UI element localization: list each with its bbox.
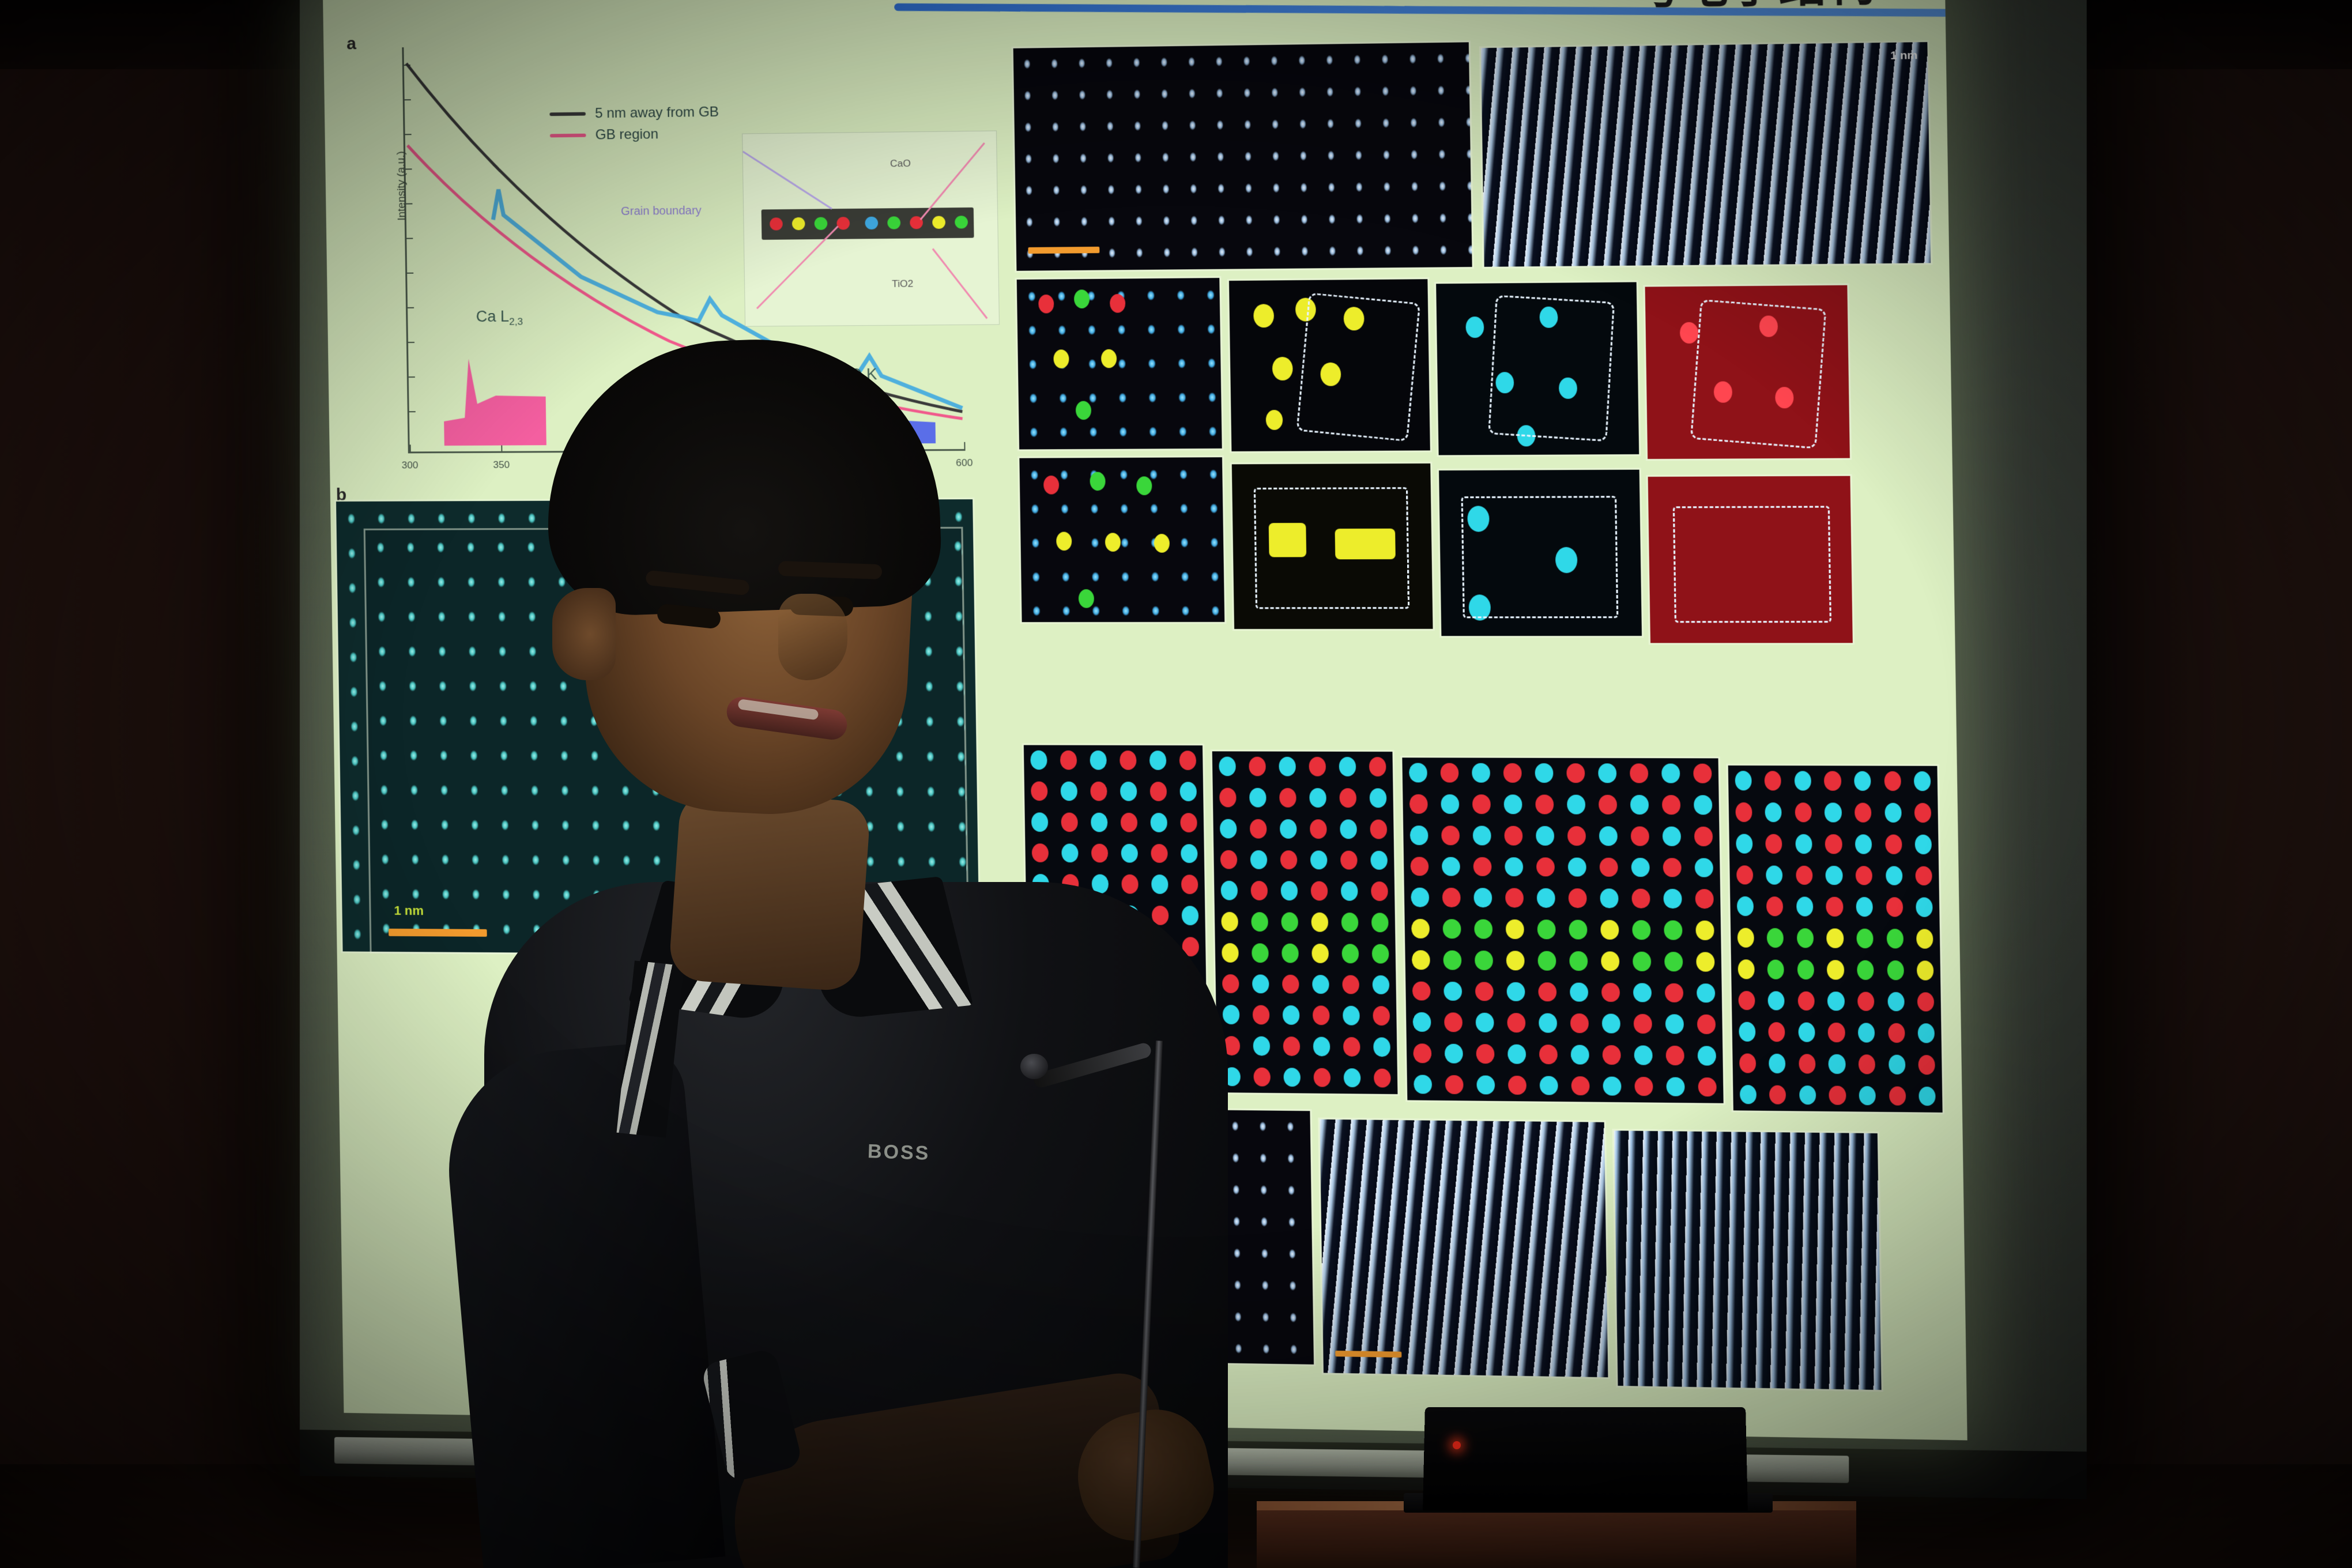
- laptop-lid[interactable]: [1423, 1407, 1748, 1511]
- atomic-column-dot: [1475, 951, 1492, 970]
- atomic-column-dot: [1441, 763, 1458, 783]
- atomic-column-dot: [1799, 1085, 1816, 1105]
- atomic-column-dot: [1477, 1075, 1495, 1095]
- atomic-column-dot: [1697, 1015, 1715, 1034]
- atomic-column-dot: [1473, 826, 1491, 845]
- atomic-column-dot: [1740, 1085, 1757, 1105]
- atomic-column-dot: [1886, 929, 1904, 948]
- atomic-column-dot: [1441, 794, 1459, 814]
- atomic-column-dot: [1633, 920, 1650, 940]
- atomic-column-dot: [1859, 1054, 1876, 1074]
- atomic-column-dot: [1857, 992, 1875, 1011]
- atomic-column-dot: [1571, 1045, 1589, 1065]
- atomic-column-dot: [1369, 757, 1386, 777]
- atomic-column-dot: [1829, 1054, 1846, 1074]
- atomic-column-dot: [1567, 795, 1585, 815]
- atomic-column-dot: [1698, 1077, 1716, 1097]
- atomic-column-dot: [1475, 982, 1493, 1001]
- atomic-column-dot: [1663, 827, 1680, 846]
- atomic-column-dot: [1735, 802, 1752, 822]
- atomic-column-dot: [1736, 834, 1752, 853]
- atomic-column-dot: [1603, 1045, 1620, 1065]
- atomic-column-dot: [1886, 898, 1903, 917]
- tile-scale-label: 1 nm: [1890, 50, 1918, 63]
- atomic-column-dot: [1373, 1006, 1390, 1026]
- atomic-column-dot: [1825, 834, 1842, 854]
- atomic-column-dot: [1570, 1013, 1588, 1033]
- atomic-column-dot: [1569, 888, 1586, 908]
- atomic-column-dot: [1539, 1013, 1557, 1033]
- atomic-column-dot: [1769, 1085, 1786, 1105]
- atomic-column-dot: [1798, 1023, 1815, 1042]
- atomic-column-dot: [1444, 982, 1462, 1001]
- atomic-column-dot: [1537, 919, 1555, 939]
- speaker-presenter: BOSS: [484, 565, 1291, 1568]
- atomic-column-dot: [1694, 764, 1712, 783]
- atomic-column-dot: [1886, 866, 1903, 885]
- atomic-column-dot: [1476, 1013, 1494, 1032]
- mosaic-tile-overlay-1: [1017, 278, 1222, 449]
- atomic-column-dot: [1766, 865, 1782, 885]
- atomic-column-dot: [1567, 764, 1585, 783]
- mosaic-tile-o-map-2: [1648, 476, 1853, 643]
- atomic-column-dot: [1601, 920, 1619, 940]
- atomic-column-dot: [1916, 898, 1933, 917]
- atomic-column-dot: [1472, 794, 1490, 814]
- atomic-column-dot: [1664, 921, 1682, 940]
- atomic-column-dot: [1826, 897, 1844, 917]
- atomic-column-dot: [1372, 944, 1389, 963]
- atomic-column-dot: [1697, 952, 1714, 971]
- left-shoulder: [439, 1039, 726, 1568]
- atomic-column-dot: [1856, 897, 1874, 917]
- atomic-column-dot: [1917, 960, 1934, 980]
- atomic-column-dot: [1536, 826, 1554, 846]
- hair: [542, 333, 943, 617]
- x-tick-1: 350: [493, 459, 510, 471]
- atomic-column-dot: [1341, 944, 1359, 963]
- atomic-column-dot: [1570, 951, 1588, 971]
- atomic-column-dot: [1411, 888, 1429, 907]
- atomic-column-dot: [1694, 795, 1712, 815]
- atomic-column-dot: [1887, 960, 1904, 980]
- atomic-column-dot: [1827, 960, 1844, 979]
- mosaic-tile-o-map: [1645, 285, 1850, 459]
- atomic-column-dot: [1504, 794, 1522, 814]
- atomic-column-dot: [1370, 851, 1388, 870]
- atomic-column-dot: [1536, 857, 1554, 877]
- atomic-column-dot: [1409, 794, 1427, 814]
- x-tick-0: 300: [402, 459, 419, 471]
- atomic-column-dot: [1414, 1043, 1431, 1063]
- atomic-column-dot: [1630, 764, 1648, 783]
- atomic-column-dot: [1630, 795, 1648, 815]
- atomic-column-dot: [1601, 982, 1619, 1002]
- atomic-column-dot: [1412, 950, 1430, 970]
- atomic-column-dot: [1506, 951, 1524, 970]
- atomic-column-dot: [1603, 1076, 1621, 1096]
- atomic-column-dot: [1506, 919, 1524, 939]
- atomic-column-dot: [1314, 1068, 1331, 1087]
- atomic-column-dot: [1665, 952, 1683, 971]
- atomic-column-dot: [1632, 889, 1650, 909]
- stem-map-mosaic: 1 nm: [1013, 36, 1933, 48]
- atomic-column-dot: [1442, 888, 1460, 907]
- atomic-column-dot: [1666, 1046, 1684, 1065]
- atomic-column-dot: [1767, 959, 1784, 979]
- atomic-column-dot: [1535, 763, 1553, 783]
- atomic-column-dot: [1769, 1054, 1785, 1073]
- atomic-tile-3: [1728, 766, 1943, 1113]
- mosaic-tile-hr-stem: [1013, 42, 1472, 270]
- atomic-column-dot: [1795, 834, 1812, 854]
- atomic-column-dot: [1888, 1023, 1905, 1043]
- atomic-tile-2: [1402, 757, 1723, 1103]
- atomic-column-dot: [1340, 850, 1358, 870]
- atomic-column-dot: [1855, 834, 1872, 854]
- atomic-column-dot: [1918, 1023, 1935, 1043]
- atomic-column-dot: [1310, 850, 1328, 870]
- atomic-column-dot: [1409, 763, 1427, 783]
- atomic-column-dot: [1475, 919, 1492, 939]
- inset-caption: Grain boundary: [621, 204, 702, 218]
- atomic-column-dot: [1796, 897, 1813, 917]
- atomic-column-dot: [1916, 929, 1933, 949]
- panel-letter-a: a: [346, 34, 356, 54]
- scale-bar-label: 1 nm: [394, 903, 424, 918]
- atomic-column-dot: [1667, 1077, 1684, 1096]
- atomic-column-dot: [1602, 1014, 1620, 1034]
- atomic-column-dot: [1309, 788, 1326, 808]
- atomic-column-dot: [1858, 1023, 1875, 1043]
- atomic-column-dot: [1313, 1037, 1330, 1057]
- atomic-column-dot: [1311, 913, 1328, 932]
- atomic-column-dot: [1767, 928, 1784, 948]
- atomic-column-dot: [1696, 921, 1714, 940]
- atomic-column-dot: [1413, 1012, 1431, 1032]
- atomic-column-dot: [1410, 826, 1428, 845]
- atomic-column-dot: [1665, 983, 1683, 1002]
- atomic-column-dot: [1474, 888, 1492, 908]
- atomic-column-dot: [1795, 771, 1811, 791]
- atomic-column-dot: [1827, 992, 1845, 1011]
- atomic-column-dot: [1339, 757, 1356, 777]
- atomic-column-dot: [1633, 952, 1651, 971]
- atomic-column-dot: [1344, 1068, 1361, 1088]
- atomic-column-dot: [1695, 889, 1713, 909]
- atomic-column-dot: [1824, 771, 1841, 791]
- mosaic-tile-ca-map: [1229, 279, 1430, 451]
- atomic-column-dot: [1370, 820, 1387, 839]
- atomic-column-dot: [1884, 771, 1901, 791]
- atomic-column-dot: [1855, 803, 1872, 823]
- atomic-column-dot: [1508, 1076, 1526, 1095]
- atomic-column-dot: [1312, 975, 1329, 994]
- atomic-column-dot: [1766, 834, 1782, 854]
- atomic-column-dot: [1414, 1075, 1432, 1094]
- atomic-column-dot: [1442, 826, 1460, 845]
- atomic-column-dot: [1914, 803, 1932, 823]
- atomic-column-dot: [1737, 959, 1754, 979]
- atomic-column-dot: [1411, 857, 1428, 876]
- atomic-column-dot: [1796, 865, 1812, 885]
- atomic-column-dot: [1343, 1006, 1360, 1026]
- atomic-column-dot: [1698, 1046, 1716, 1065]
- scale-bar-icon: [389, 929, 487, 937]
- atomic-column-dot: [1599, 826, 1617, 846]
- atomic-column-dot: [1537, 888, 1555, 908]
- atomic-column-dot: [1571, 1076, 1589, 1096]
- atomic-column-dot: [1739, 1022, 1755, 1042]
- atomic-column-dot: [1539, 982, 1556, 1002]
- atomic-column-dot: [1508, 1045, 1526, 1064]
- atomic-column-dot: [1311, 881, 1328, 901]
- atomic-column-dot: [1885, 834, 1902, 854]
- atomic-column-dot: [1857, 960, 1874, 979]
- atomic-column-dot: [1884, 803, 1902, 823]
- atomic-column-dot: [1918, 1055, 1936, 1075]
- atomic-column-dot: [1826, 866, 1843, 885]
- atomic-column-dot: [1914, 771, 1931, 791]
- atomic-column-dot: [1600, 857, 1618, 877]
- shirt-brand-logo: BOSS: [867, 1140, 930, 1165]
- atomic-column-dot: [1507, 1013, 1525, 1032]
- atomic-column-dot: [1600, 889, 1618, 909]
- atomic-column-dot: [1633, 983, 1651, 1002]
- atomic-column-dot: [1539, 1045, 1557, 1064]
- roi-outline: [1296, 292, 1420, 442]
- atomic-column-dot: [1766, 897, 1783, 917]
- atomic-column-dot: [1634, 1045, 1652, 1065]
- atomic-column-dot: [1599, 764, 1616, 783]
- atomic-column-dot: [1342, 975, 1359, 994]
- atomic-column-dot: [1442, 857, 1460, 876]
- atomic-column-dot: [1854, 771, 1871, 791]
- atomic-column-dot: [1341, 913, 1359, 932]
- atomic-column-dot: [1371, 913, 1389, 932]
- atomic-column-dot: [1737, 928, 1754, 948]
- atomic-column-dot: [1769, 1022, 1785, 1042]
- atomic-column-dot: [1412, 919, 1430, 938]
- atomic-column-dot: [1503, 763, 1521, 783]
- atomic-column-dot: [1540, 1076, 1558, 1095]
- atomic-column-dot: [1797, 991, 1814, 1011]
- atomic-column-dot: [1828, 1023, 1845, 1042]
- atomic-column-dot: [1634, 1014, 1652, 1034]
- atomic-column-dot: [1340, 819, 1357, 839]
- atomic-column-dot: [1768, 991, 1785, 1011]
- atomic-column-dot: [1505, 857, 1523, 877]
- atomic-column-dot: [1887, 992, 1905, 1011]
- atomic-tile-5: [1320, 1120, 1608, 1377]
- atomic-column-dot: [1797, 960, 1814, 979]
- atomic-column-dot: [1665, 1015, 1683, 1034]
- atomic-column-dot: [1374, 1068, 1391, 1088]
- presentation-photo: 与电子结构 a Intensity (a.u.) Energy loss (eV…: [0, 0, 2352, 1568]
- atomic-column-dot: [1918, 1087, 1936, 1106]
- atomic-column-dot: [1472, 763, 1490, 783]
- atomic-column-dot: [1568, 857, 1586, 877]
- atomic-column-dot: [1795, 802, 1811, 822]
- atomic-column-dot: [1662, 764, 1680, 783]
- atomic-column-dot: [1738, 991, 1755, 1011]
- ear: [552, 588, 616, 680]
- atomic-column-dot: [1373, 1037, 1390, 1057]
- atomic-column-dot: [1309, 757, 1326, 776]
- atomic-column-dot: [1473, 857, 1491, 877]
- atomic-column-dot: [1797, 928, 1814, 948]
- atomic-column-dot: [1339, 788, 1356, 808]
- atomic-column-dot: [1443, 919, 1461, 938]
- atomic-column-dot: [1799, 1054, 1815, 1073]
- mosaic-tile-stripe: 1 nm: [1481, 42, 1931, 267]
- atomic-column-dot: [1697, 983, 1714, 1003]
- atomic-column-dot: [1825, 803, 1842, 823]
- atomic-column-dot: [1765, 771, 1781, 791]
- atomic-column-dot: [1695, 858, 1713, 877]
- atomic-column-dot: [1373, 975, 1390, 994]
- atomic-column-dot: [1889, 1086, 1906, 1106]
- atomic-column-dot: [1505, 826, 1522, 846]
- atomic-column-dot: [1631, 826, 1649, 846]
- mosaic-tile-ti-map: [1436, 282, 1639, 455]
- mosaic-tile-ti-map-2: [1439, 470, 1642, 636]
- atomic-column-dot: [1631, 858, 1649, 877]
- atomic-column-dot: [1443, 950, 1461, 970]
- atomic-column-dot: [1506, 888, 1524, 908]
- atomic-column-dot: [1313, 1006, 1330, 1026]
- atomic-column-dot: [1599, 795, 1616, 815]
- atomic-column-dot: [1694, 827, 1712, 846]
- atomic-column-dot: [1341, 881, 1358, 901]
- microphone-capsule-icon: [1020, 1054, 1048, 1079]
- atomic-column-dot: [1343, 1037, 1360, 1057]
- laptop-power-led-icon: [1453, 1441, 1461, 1449]
- atomic-column-dot: [1765, 802, 1782, 822]
- atomic-column-dot: [1569, 920, 1587, 940]
- atomic-column-dot: [1916, 866, 1933, 885]
- atomic-column-dot: [1445, 1044, 1463, 1064]
- atomic-column-dot: [1856, 866, 1873, 885]
- atomic-column-dot: [1739, 1053, 1756, 1073]
- podium: [1257, 1505, 1856, 1568]
- atomic-column-dot: [1889, 1055, 1906, 1075]
- atomic-column-dot: [1445, 1075, 1463, 1095]
- atomic-column-dot: [1507, 982, 1525, 1001]
- atomic-column-dot: [1476, 1044, 1494, 1064]
- atomic-column-dot: [1856, 929, 1874, 948]
- atomic-tile-6: [1614, 1130, 1882, 1390]
- atomic-column-dot: [1829, 1085, 1846, 1105]
- atomic-column-dot: [1412, 981, 1430, 1001]
- atomic-column-dot: [1570, 982, 1588, 1002]
- atomic-column-dot: [1917, 992, 1935, 1012]
- atomic-column-dot: [1536, 795, 1554, 815]
- head: [536, 346, 963, 865]
- atomic-column-dot: [1915, 835, 1932, 854]
- atomic-column-dot: [1311, 944, 1329, 963]
- atomic-column-dot: [1737, 896, 1754, 916]
- atomic-column-dot: [1859, 1086, 1876, 1106]
- atomic-column-dot: [1736, 865, 1753, 885]
- atomic-column-dot: [1735, 771, 1751, 791]
- atomic-column-dot: [1310, 819, 1327, 839]
- atomic-column-dot: [1370, 789, 1387, 808]
- atomic-column-dot: [1662, 795, 1680, 815]
- atomic-column-dot: [1635, 1077, 1653, 1096]
- atomic-column-dot: [1538, 951, 1556, 971]
- atomic-column-dot: [1664, 889, 1682, 909]
- atomic-column-dot: [1567, 826, 1585, 846]
- atomic-column-dot: [1663, 858, 1681, 877]
- atomic-column-dot: [1371, 881, 1388, 901]
- grain-boundary-inset: Grain boundary CaO TiO2: [742, 130, 1000, 326]
- atomic-column-dot: [1826, 929, 1844, 948]
- atomic-column-dot: [1601, 951, 1619, 971]
- atomic-column-dot: [1445, 1013, 1463, 1032]
